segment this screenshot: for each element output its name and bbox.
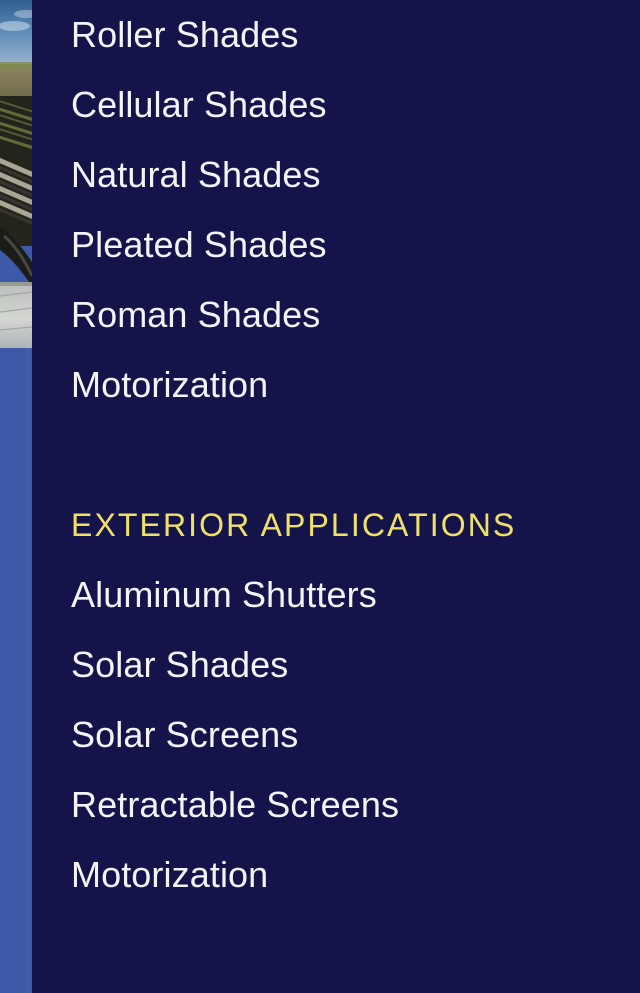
pergola-photo-graphic (0, 0, 32, 348)
menu-item-pleated-shades[interactable]: Pleated Shades (71, 210, 640, 280)
accent-rail-seam (27, 348, 28, 993)
menu-item-natural-shades[interactable]: Natural Shades (71, 140, 640, 210)
menu-item-cellular-shades[interactable]: Cellular Shades (71, 70, 640, 140)
left-accent-rail (0, 0, 32, 993)
menu-item-solar-shades[interactable]: Solar Shades (71, 630, 640, 700)
menu-panel: Roller Shades Cellular Shades Natural Sh… (32, 0, 640, 993)
menu-list: Roller Shades Cellular Shades Natural Sh… (71, 0, 640, 910)
menu-item-roller-shades[interactable]: Roller Shades (71, 0, 640, 70)
navigation-panel: Roller Shades Cellular Shades Natural Sh… (0, 0, 640, 993)
menu-item-motorization-interior[interactable]: Motorization (71, 350, 640, 420)
menu-item-solar-screens[interactable]: Solar Screens (71, 700, 640, 770)
menu-item-retractable-screens[interactable]: Retractable Screens (71, 770, 640, 840)
menu-item-motorization-exterior[interactable]: Motorization (71, 840, 640, 910)
menu-item-roman-shades[interactable]: Roman Shades (71, 280, 640, 350)
pergola-photo (0, 0, 32, 348)
menu-item-aluminum-shutters[interactable]: Aluminum Shutters (71, 560, 640, 630)
menu-group-spacer (71, 420, 640, 490)
menu-section-heading-exterior-applications: EXTERIOR APPLICATIONS (71, 490, 640, 560)
